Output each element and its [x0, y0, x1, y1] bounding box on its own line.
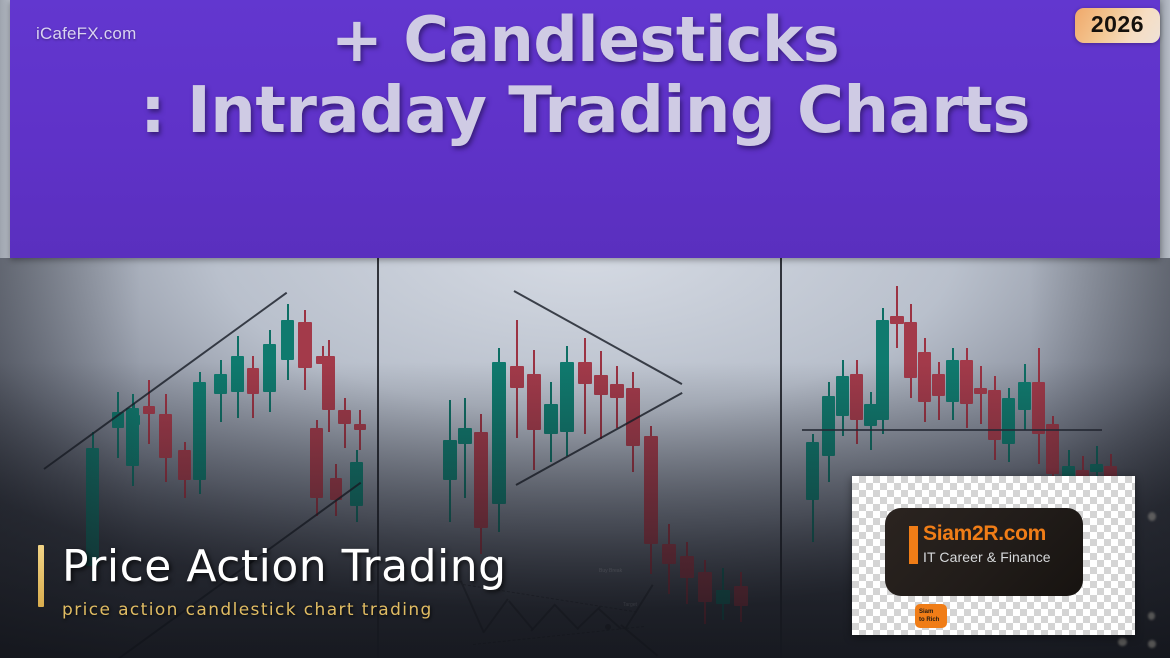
panel-divider-2 [780, 258, 782, 658]
banner-edge-right [1160, 0, 1170, 258]
logo-inner-panel: Siam2R.com IT Career & Finance Siam to R… [885, 508, 1083, 596]
bokeh-dot [1148, 640, 1156, 648]
bokeh-dot [1148, 612, 1155, 620]
logo-accent-bar-icon [909, 526, 918, 564]
logo-chip-line-2: to Rich [919, 617, 939, 623]
purple-banner: + Candlesticks : Intraday Trading Charts… [10, 0, 1160, 258]
banner-edge-left [0, 0, 10, 258]
logo-tagline: IT Career & Finance [923, 549, 1051, 565]
caption-block: Price Action Trading price action candle… [38, 541, 507, 620]
banner-title-line-1: + Candlesticks [10, 8, 1160, 72]
logo-card[interactable]: Siam2R.com IT Career & Finance Siam to R… [852, 476, 1135, 635]
site-watermark: iCafeFX.com [36, 24, 136, 44]
page-subtitle: price action candlestick chart trading [62, 600, 507, 620]
year-badge: 2026 [1075, 8, 1160, 43]
logo-brand-name: Siam2R.com [923, 522, 1046, 546]
screenshot-stage: Buy Break Target [0, 0, 1170, 658]
banner-title-line-2: : Intraday Trading Charts [10, 78, 1160, 145]
banner-title: + Candlesticks : Intraday Trading Charts [10, 8, 1160, 145]
page-title: Price Action Trading [62, 541, 507, 592]
accent-bar [38, 545, 44, 607]
logo-chip-line-1: Siam [919, 609, 933, 615]
logo-chip-badge: Siam to Rich [915, 604, 947, 628]
bokeh-dot [1148, 512, 1156, 521]
bokeh-dot [1118, 638, 1127, 646]
